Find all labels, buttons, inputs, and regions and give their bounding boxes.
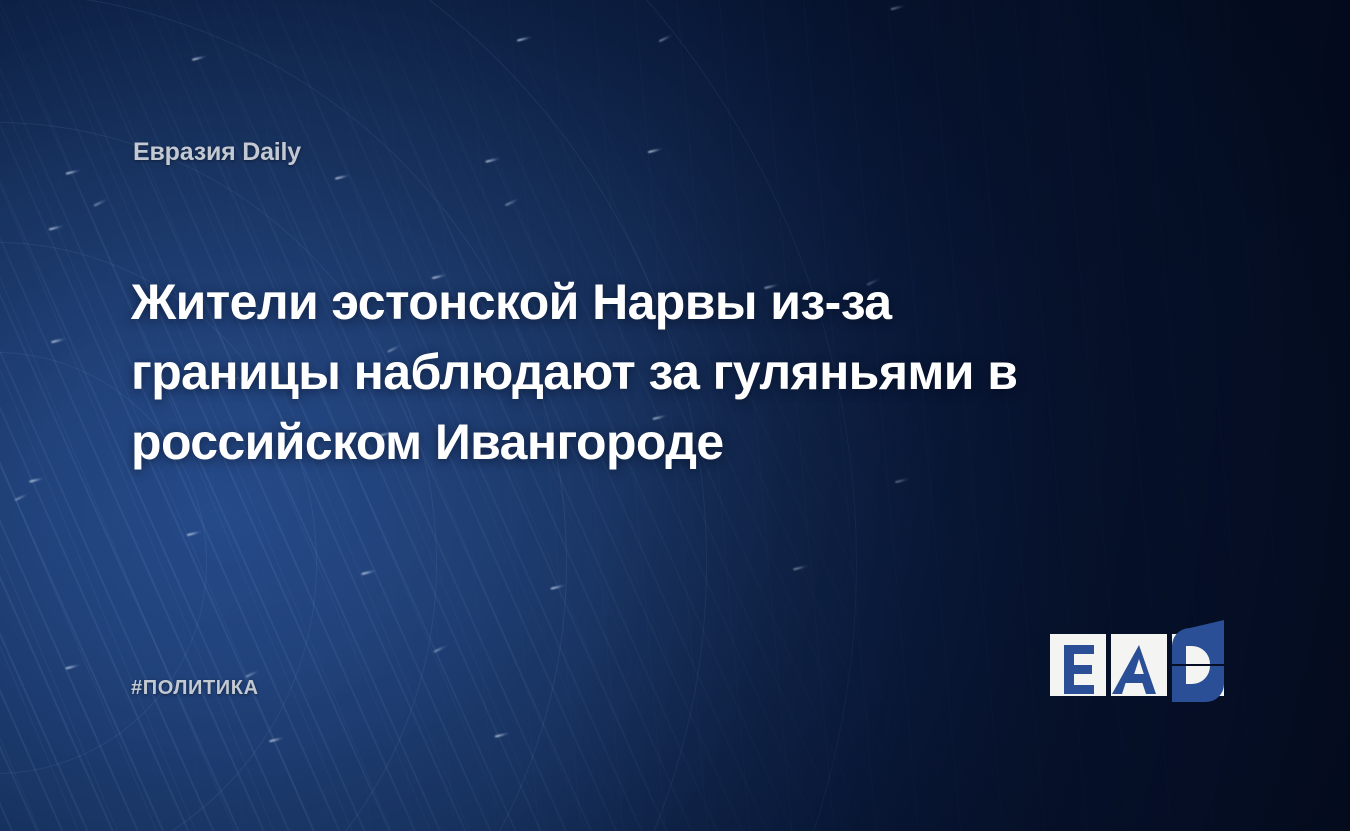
eadaily-logo bbox=[1049, 619, 1225, 711]
category-tag: #ПОЛИТИКА bbox=[131, 677, 259, 700]
brand-wordmark: Евразия Daily bbox=[133, 138, 301, 167]
page-title: Жители эстонской Нарвы из-за границы наб… bbox=[131, 267, 1091, 477]
news-share-card: Евразия Daily Жители эстонской Нарвы из-… bbox=[0, 0, 1350, 831]
